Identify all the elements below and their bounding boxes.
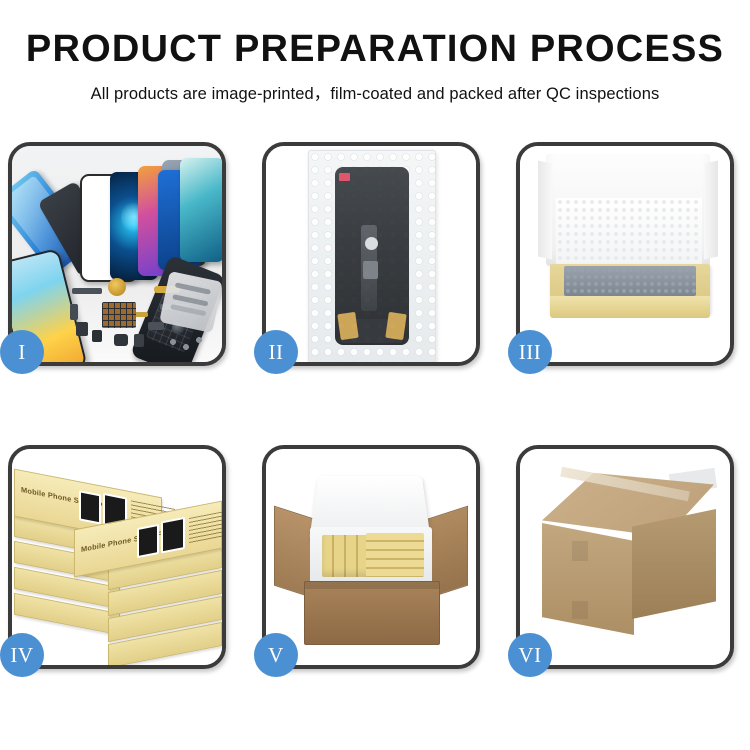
small-component-part xyxy=(92,330,102,342)
lcd-screen-assembly xyxy=(335,167,409,345)
small-component-part xyxy=(134,334,144,347)
step-6-image xyxy=(520,449,730,665)
carton-right-face xyxy=(632,509,716,619)
step-badge-1: I xyxy=(0,330,44,374)
phone-teal-gradient xyxy=(180,158,222,262)
yellow-box-front xyxy=(550,296,710,318)
process-step-6: VI xyxy=(516,445,734,669)
box-spec-lines xyxy=(189,509,222,544)
small-component-part xyxy=(70,304,78,320)
small-component-part xyxy=(114,334,128,346)
page-title: PRODUCT PREPARATION PROCESS xyxy=(0,30,750,70)
lcd-flex-right xyxy=(385,312,406,340)
process-panel-grid: I II xyxy=(8,142,742,669)
process-step-1: I xyxy=(8,142,226,366)
box-stack: Mobile Phone Spare Parts Mobile Phone Sp… xyxy=(12,459,222,659)
box-screen-image xyxy=(79,490,101,524)
repair-tool xyxy=(159,271,222,333)
pink-qc-label xyxy=(339,173,350,181)
step-4-image: Mobile Phone Spare Parts Mobile Phone Sp… xyxy=(12,449,222,665)
white-foam-sheet xyxy=(556,198,702,272)
step-badge-6: VI xyxy=(508,633,552,677)
carton-seam xyxy=(572,601,588,619)
page-subtitle: All products are image-printed，film-coat… xyxy=(0,80,750,104)
header: PRODUCT PREPARATION PROCESS All products… xyxy=(0,0,750,104)
carton-front-panel xyxy=(304,581,440,645)
step-badge-4: IV xyxy=(0,633,44,677)
process-step-2: II xyxy=(262,142,480,366)
grey-foam-padding xyxy=(564,266,696,296)
bubble-wrap-bag xyxy=(308,150,436,362)
infographic-page: PRODUCT PREPARATION PROCESS All products… xyxy=(0,0,750,750)
step-3-image xyxy=(520,146,730,362)
step-1-image xyxy=(12,146,222,362)
step-badge-5: V xyxy=(254,633,298,677)
connector-board-part xyxy=(102,302,136,328)
step-badge-2: II xyxy=(254,330,298,374)
step-5-image xyxy=(266,449,476,665)
step-2-image xyxy=(266,146,476,362)
yellow-boxes-inside xyxy=(366,533,424,577)
small-component-part xyxy=(148,322,164,330)
lcd-chip-part xyxy=(363,261,378,279)
carton-seam xyxy=(572,541,588,561)
carton-left-face xyxy=(542,523,634,635)
process-step-5: V xyxy=(262,445,480,669)
lcd-flex-left xyxy=(337,312,358,340)
screws-group xyxy=(168,336,210,352)
small-component-part xyxy=(76,322,88,336)
box-screen-image xyxy=(161,517,185,554)
vibrator-motor-part xyxy=(108,278,126,296)
box-screen-image xyxy=(137,524,159,558)
process-step-4: Mobile Phone Spare Parts Mobile Phone Sp… xyxy=(8,445,226,669)
flex-cable-part xyxy=(72,288,102,294)
step-badge-3: III xyxy=(508,330,552,374)
lcd-speaker-part xyxy=(365,237,378,250)
process-step-3: III xyxy=(516,142,734,366)
